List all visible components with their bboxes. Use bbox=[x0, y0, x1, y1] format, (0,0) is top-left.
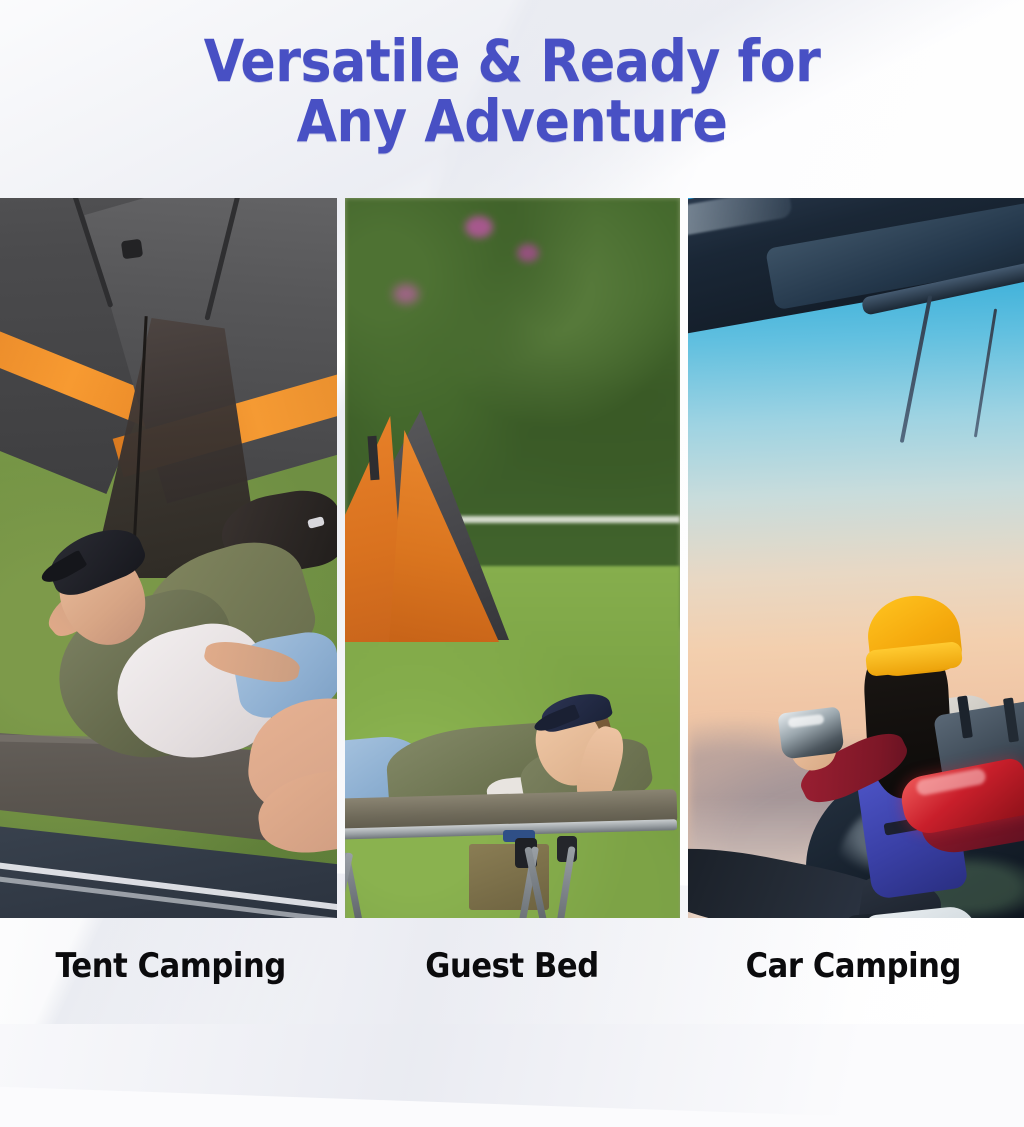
caption-guest-bed: Guest Bed bbox=[341, 930, 682, 1002]
feature-image-strip bbox=[0, 198, 1024, 918]
photo-panel-guest-bed bbox=[345, 198, 680, 918]
pink-flower-b bbox=[517, 244, 539, 262]
photo-panel-tent-camping bbox=[0, 198, 337, 918]
tent-pole-hub bbox=[121, 239, 143, 260]
headline-line-1: Versatile & Ready for bbox=[204, 27, 821, 95]
caption-tent-camping: Tent Camping bbox=[0, 930, 341, 1002]
caption-car-camping: Car Camping bbox=[683, 930, 1024, 1002]
pink-flower-c bbox=[393, 284, 419, 304]
headline-line-2: Any Adventure bbox=[0, 92, 1024, 152]
photo-panel-car-camping bbox=[688, 198, 1024, 918]
page-title: Versatile & Ready for Any Adventure bbox=[0, 32, 1024, 151]
caption-row: Tent Camping Guest Bed Car Camping bbox=[0, 930, 1024, 1002]
pink-flower-a bbox=[465, 216, 493, 238]
